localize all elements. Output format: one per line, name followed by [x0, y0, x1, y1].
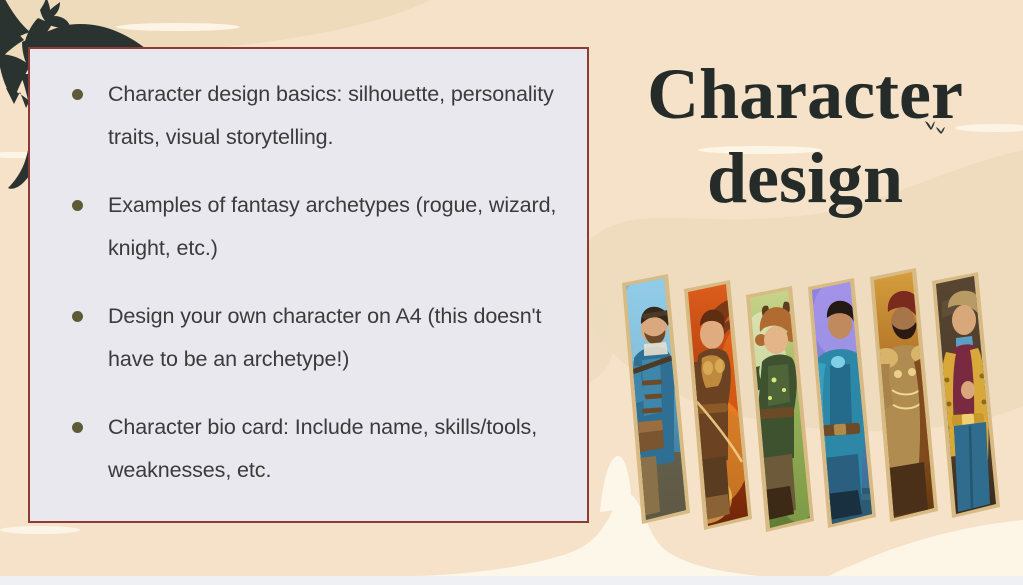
bullet-dot-icon	[72, 200, 83, 211]
list-item: Character bio card: Include name, skills…	[48, 406, 573, 492]
list-item: Design your own character on A4 (this do…	[48, 295, 573, 381]
list-item: Character design basics: silhouette, per…	[48, 73, 573, 159]
bullet-dot-icon	[72, 422, 83, 433]
page-title-line-2: design	[600, 136, 1010, 220]
bird-silhouette-icon	[924, 119, 946, 137]
bullet-dot-icon	[72, 89, 83, 100]
bullet-text: Character design basics: silhouette, per…	[108, 82, 554, 149]
list-item: Examples of fantasy archetypes (rogue, w…	[48, 184, 573, 270]
bullet-text: Examples of fantasy archetypes (rogue, w…	[108, 193, 556, 260]
bullet-text: Character bio card: Include name, skills…	[108, 415, 537, 482]
character-cards-strip	[612, 262, 1023, 532]
bullet-content-box: Character design basics: silhouette, per…	[28, 47, 589, 523]
bullet-text: Design your own character on A4 (this do…	[108, 304, 541, 371]
page-title-line-1: Character	[600, 52, 1010, 136]
bullet-list: Character design basics: silhouette, per…	[30, 49, 591, 517]
bottom-strip	[0, 576, 1023, 585]
page-title: Character design	[600, 52, 1010, 220]
slide-canvas: Character design basics: silhouette, per…	[0, 0, 1023, 585]
bullet-dot-icon	[72, 311, 83, 322]
